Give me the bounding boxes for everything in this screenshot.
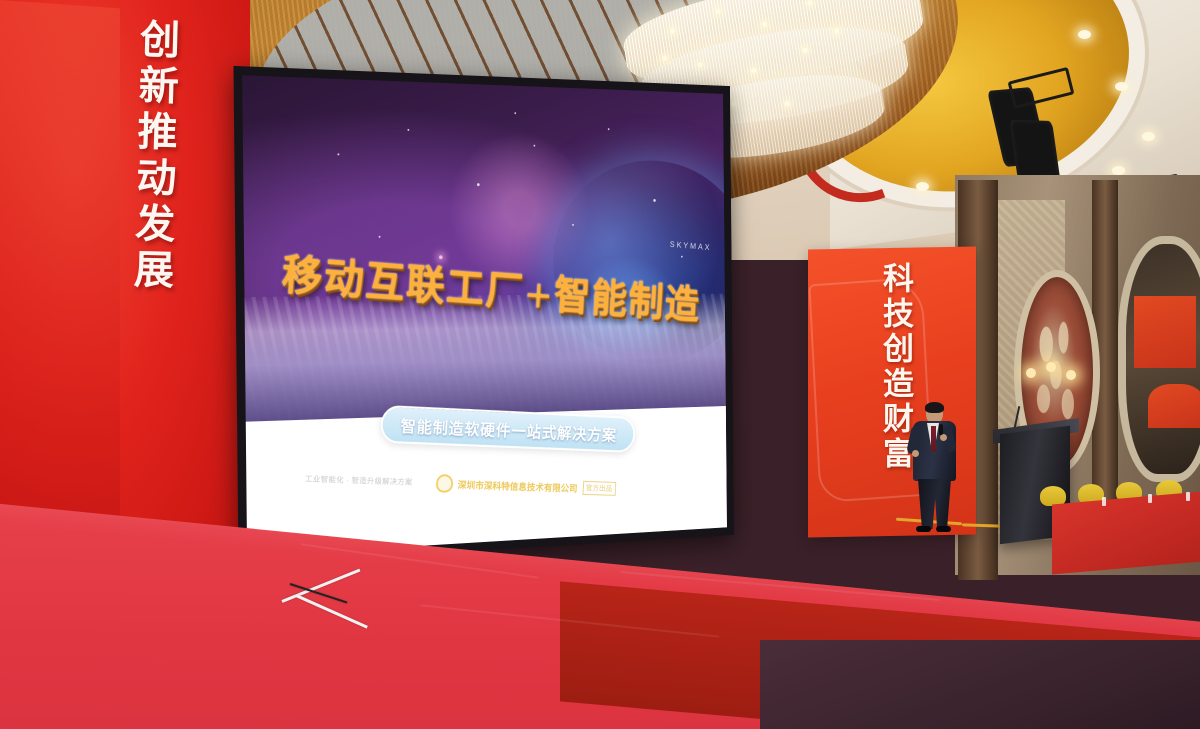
wall-sconce-light xyxy=(1046,362,1056,372)
ceiling-downlight xyxy=(1112,166,1125,175)
presenter-hair xyxy=(925,402,944,413)
banner-left-text: 创新推动发展 xyxy=(102,17,177,295)
presenter xyxy=(908,404,960,538)
banner-right-text: 科技创造财富 xyxy=(864,262,912,472)
ceiling-downlight xyxy=(1115,82,1128,91)
presenter-shoe xyxy=(916,526,931,532)
slide-footer-tag: 官方出品 xyxy=(582,480,616,495)
ceiling-downlight xyxy=(1078,30,1091,39)
ceiling-downlight xyxy=(1142,132,1155,141)
slide-title-second: 智能制造 xyxy=(553,273,702,328)
water-bottle xyxy=(1102,497,1106,506)
ballroom-floor-carpet xyxy=(760,640,1200,729)
red-wall-poster xyxy=(1134,296,1196,368)
water-bottle xyxy=(1148,494,1152,503)
presenter-right-hand xyxy=(940,434,947,441)
presenter-tie xyxy=(931,426,936,452)
head-table xyxy=(1052,491,1200,574)
flame-shield-icon xyxy=(435,474,453,493)
wall-sconce-light xyxy=(1026,368,1036,378)
presenter-left-hand xyxy=(912,450,919,457)
slide-footer-company: 深圳市深科特信息技术有限公司 xyxy=(457,476,578,494)
presenter-shoe xyxy=(936,526,951,532)
microphone-icon xyxy=(939,424,943,435)
presenter-trousers xyxy=(918,479,951,529)
conference-stage-photo: 创新推动发展 科技创造财富 xyxy=(0,0,1200,729)
red-wall-poster xyxy=(1148,384,1200,428)
wall-sconce-light xyxy=(1066,370,1076,380)
slide-title-plus: ＋ xyxy=(523,278,555,315)
slide-footer-left-text: 工业智能化 · 智造升级解决方案 xyxy=(305,473,413,487)
led-screen: SKYMAX 移动互联工厂＋智能制造 智能制造软硬件一站式解决方案 工业智能化 … xyxy=(233,66,734,566)
ceiling-downlight xyxy=(916,182,929,191)
line-array-speaker xyxy=(1009,120,1060,183)
presentation-slide: SKYMAX 移动互联工厂＋智能制造 智能制造软硬件一站式解决方案 工业智能化 … xyxy=(242,75,727,556)
water-bottle xyxy=(1186,492,1190,501)
decorative-mirror xyxy=(1118,236,1200,482)
